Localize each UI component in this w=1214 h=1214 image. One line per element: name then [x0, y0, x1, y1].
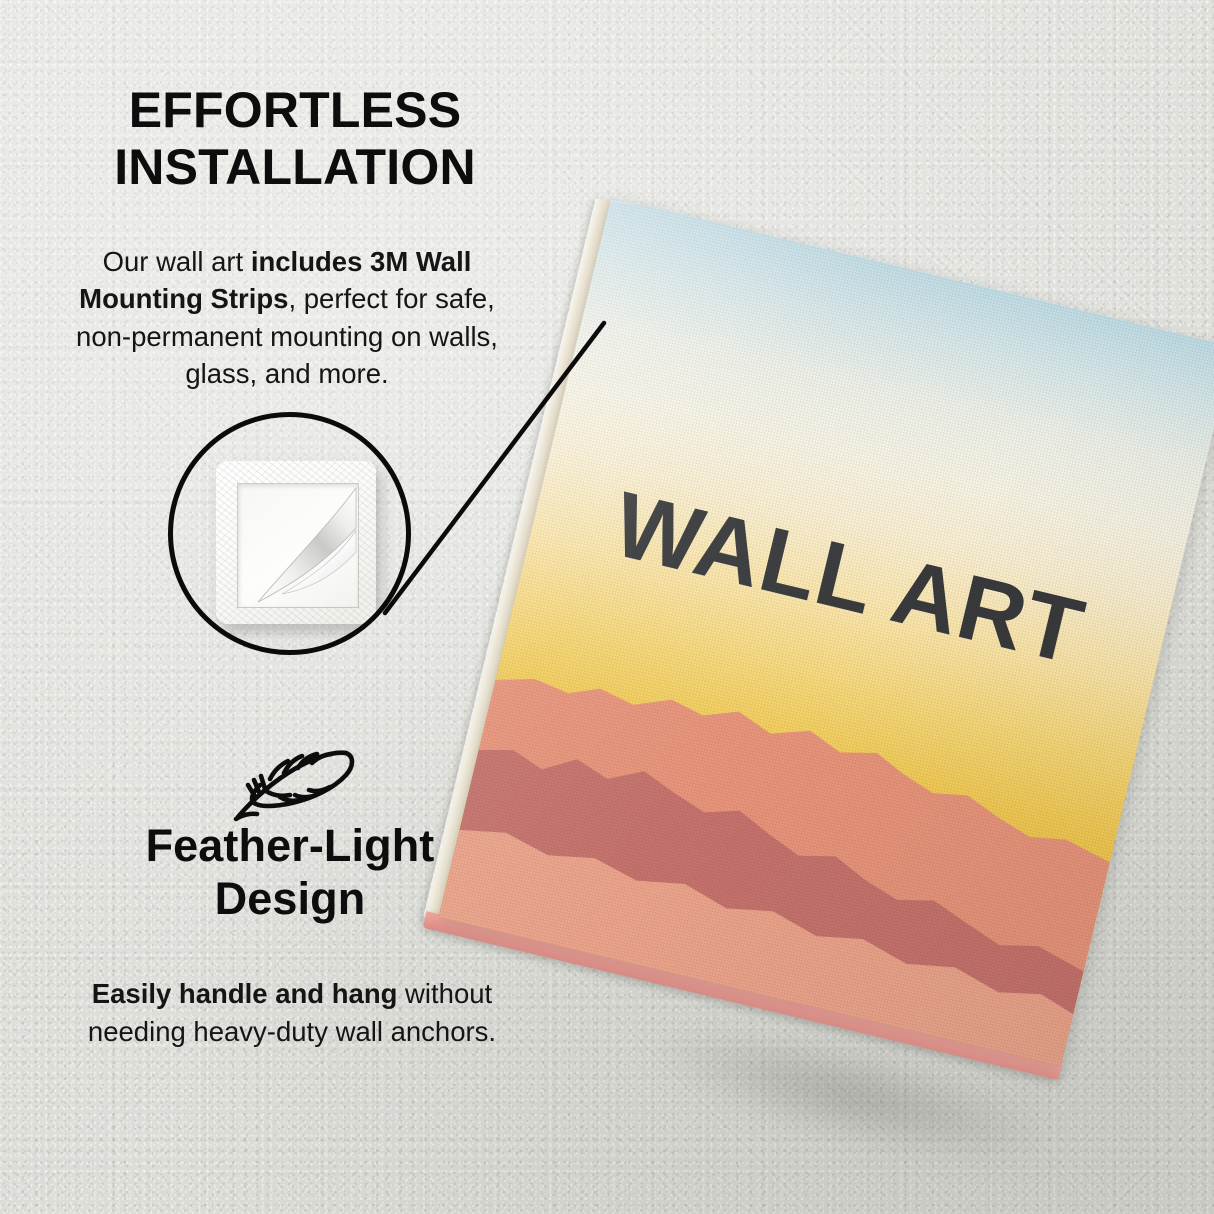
callout-inner — [173, 417, 406, 650]
strip-peel-corner — [238, 484, 358, 607]
adhesive-strip-icon — [216, 461, 376, 624]
mounting-strip-callout — [168, 412, 411, 655]
install-headline-line-2: INSTALLATION — [60, 139, 530, 196]
install-headline-line-1: EFFORTLESS — [60, 82, 530, 139]
weight-headline-line-1: Feather-Light — [80, 820, 500, 873]
wall-art-canvas: WALL ART — [438, 198, 1214, 1067]
install-headline: EFFORTLESS INSTALLATION — [60, 82, 530, 196]
feather-icon — [222, 735, 362, 825]
weight-body-bold-1: Easily handle and hang — [92, 978, 398, 1009]
weight-body-text: Easily handle and hang without needing h… — [62, 975, 522, 1050]
install-body-part-1: Our wall art — [103, 246, 251, 277]
canvas-print-face: WALL ART — [438, 198, 1214, 1067]
weight-headline-line-2: Design — [80, 873, 500, 926]
install-body-text: Our wall art includes 3M Wall Mounting S… — [52, 243, 522, 393]
weight-headline: Feather-Light Design — [80, 820, 500, 925]
infographic-canvas: WALL ART EFFORTLESS INSTALLATION Our wal… — [0, 0, 1214, 1214]
